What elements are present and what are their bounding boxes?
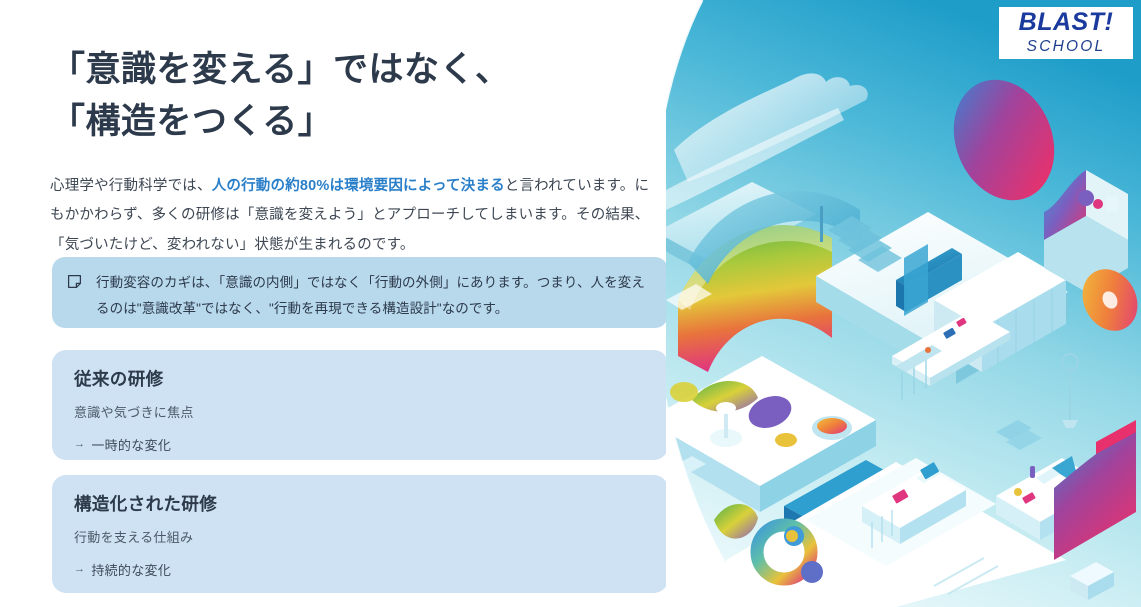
key-insight-callout: 行動変容のカギは、「意識の内側」ではなく「行動の外側」にあります。つまり、人を変…: [52, 257, 668, 328]
page-title: 「意識を変える」ではなく、 「構造をつくる」: [50, 44, 675, 148]
card-result-label: 持続的な変化: [91, 560, 171, 579]
card-subtitle: 意識や気づきに焦点: [74, 402, 646, 421]
brand-logo[interactable]: BLAST! SCHOOL: [999, 7, 1133, 59]
card-title: 従来の研修: [74, 368, 646, 391]
isometric-campus-illustration: [666, 0, 1141, 607]
card-result-label: 一時的な変化: [91, 435, 171, 454]
arrow-right-icon: →: [74, 438, 85, 450]
intro-text-part-1: 心理学や行動科学では、: [50, 178, 212, 194]
card-title: 構造化された研修: [74, 493, 646, 516]
slide-root: 「意識を変える」ではなく、 「構造をつくる」 心理学や行動科学では、人の行動の約…: [0, 0, 1141, 607]
card-result-row: → 一時的な変化: [74, 435, 646, 454]
headline-line-2: 「構造をつくる」: [50, 96, 675, 148]
logo-subtitle: SCHOOL: [1027, 37, 1106, 56]
intro-paragraph: 心理学や行動科学では、人の行動の約80%は環境要因によって決まると言われています…: [50, 172, 660, 261]
arrow-right-icon: →: [74, 563, 85, 575]
intro-highlight: 人の行動の約80%は環境要因によって決まる: [212, 178, 505, 194]
card-subtitle: 行動を支える仕組み: [74, 527, 646, 546]
note-icon: [67, 274, 82, 289]
content-column: 「意識を変える」ではなく、 「構造をつくる」 心理学や行動科学では、人の行動の約…: [50, 0, 675, 607]
card-structured-training: 構造化された研修 行動を支える仕組み → 持続的な変化: [52, 475, 668, 593]
callout-text: 行動変容のカギは、「意識の内側」ではなく「行動の外側」にあります。つまり、人を変…: [96, 270, 650, 323]
card-result-row: → 持続的な変化: [74, 560, 646, 579]
card-traditional-training: 従来の研修 意識や気づきに焦点 → 一時的な変化: [52, 350, 668, 460]
logo-wordmark: BLAST!: [1019, 10, 1114, 35]
headline-line-1: 「意識を変える」ではなく、: [50, 44, 675, 96]
